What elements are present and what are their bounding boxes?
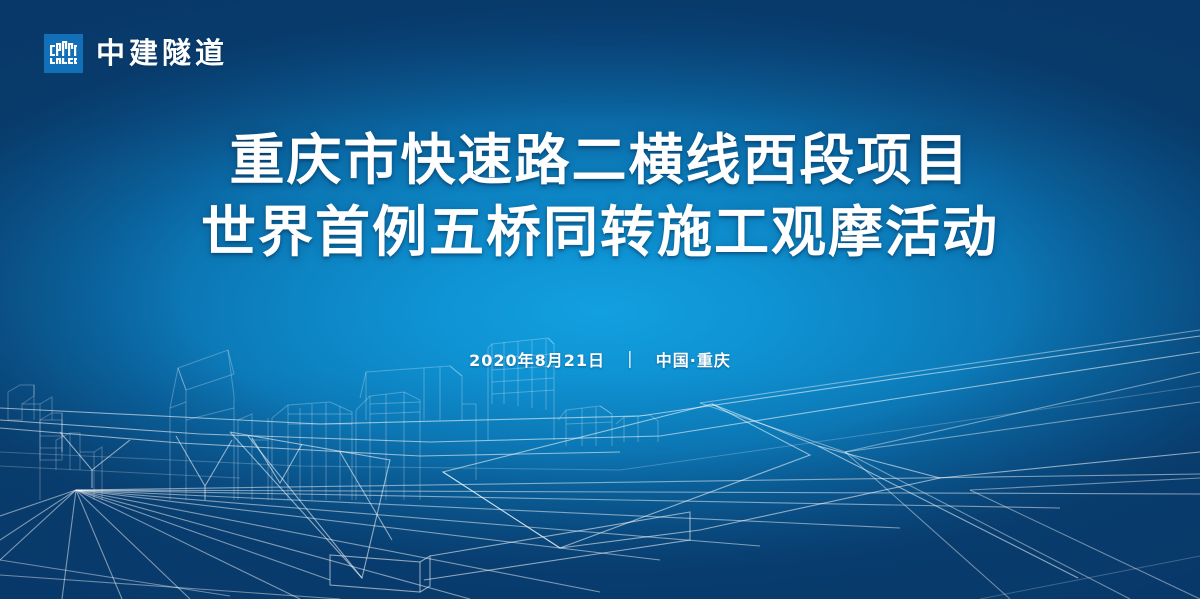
headline-line-2: 世界首例五桥同转施工观摩活动 [0, 196, 1200, 268]
event-date: 2020年8月21日 [469, 347, 605, 371]
event-backdrop: 中建隧道 重庆市快速路二横线西段项目 世界首例五桥同转施工观摩活动 2020年8… [0, 0, 1200, 599]
cscec-logo-icon [44, 34, 83, 73]
roadway-perspective-lines [0, 474, 1200, 599]
event-location: 中国·重庆 [656, 347, 731, 371]
brand-logo: 中建隧道 [44, 34, 228, 73]
page-title: 重庆市快速路二横线西段项目 世界首例五桥同转施工观摩活动 [0, 124, 1200, 268]
meta-separator: | [627, 349, 634, 369]
headline-line-1: 重庆市快速路二横线西段项目 [0, 124, 1200, 196]
event-meta: 2020年8月21日 | 中国·重庆 [0, 347, 1200, 371]
background-line-art [0, 0, 1200, 599]
faint-sweep-lines [0, 386, 1200, 599]
brand-company-name: 中建隧道 [96, 39, 228, 68]
